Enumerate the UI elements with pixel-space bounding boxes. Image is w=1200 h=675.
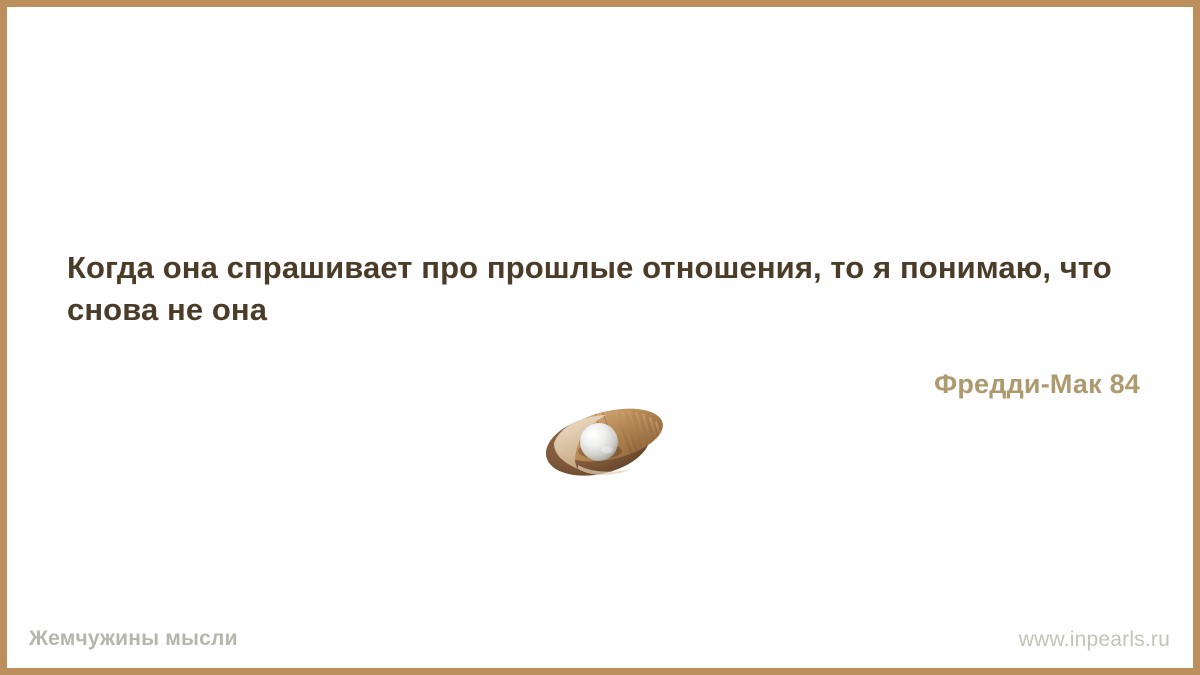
seashell-with-pearl-illustration [540,403,670,479]
quote-card: Когда она спрашивает про прошлые отношен… [0,0,1200,675]
quote-author: Фредди-Мак 84 [934,369,1140,400]
footer-site-url[interactable]: www.inpearls.ru [1019,628,1170,652]
footer-site-name: Жемчужины мысли [29,627,238,651]
quote-text: Когда она спрашивает про прошлые отношен… [67,247,1137,331]
seashell-icon [540,403,670,479]
